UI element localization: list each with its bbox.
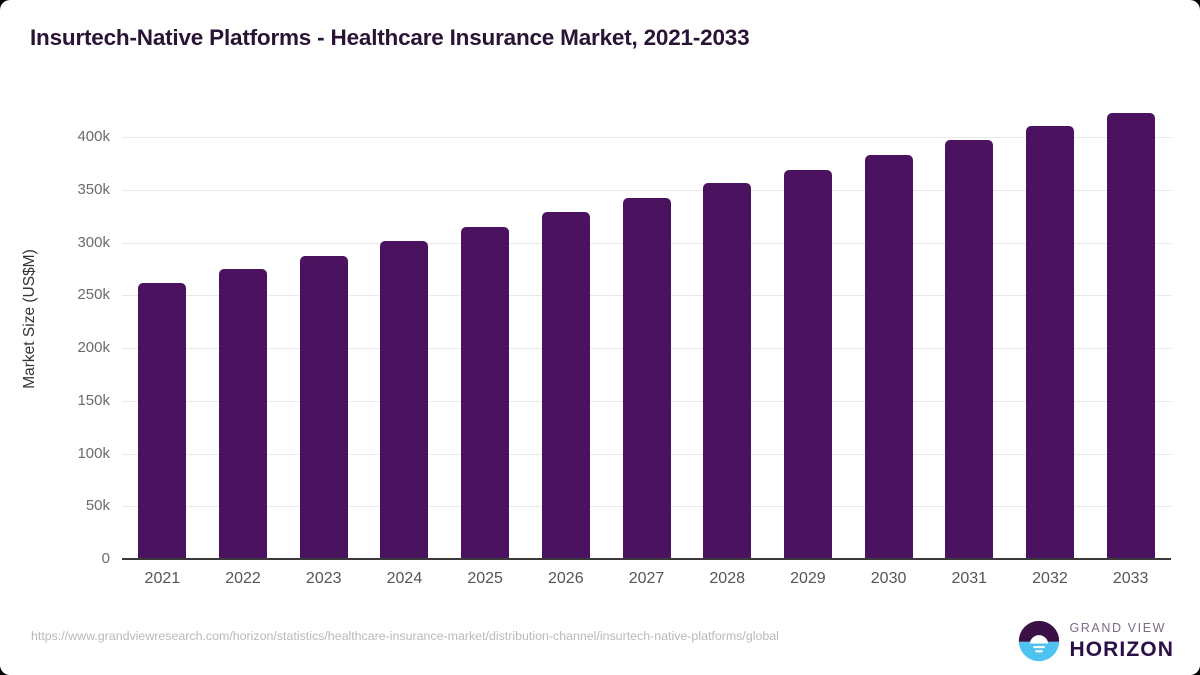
y-tick-label: 50k <box>0 497 110 514</box>
x-tick-label: 2026 <box>526 570 606 588</box>
x-tick-label: 2024 <box>364 570 444 588</box>
y-tick-label: 350k <box>0 181 110 198</box>
source-url[interactable]: https://www.grandviewresearch.com/horizo… <box>31 628 921 645</box>
gridline <box>122 137 1171 138</box>
y-axis-title-wrapper: Market Size (US$M) <box>0 0 60 675</box>
bar[interactable] <box>542 212 590 559</box>
y-tick-label: 200k <box>0 339 110 356</box>
bar[interactable] <box>703 183 751 559</box>
bar[interactable] <box>1107 113 1155 559</box>
y-tick-label: 150k <box>0 392 110 409</box>
x-tick-label: 2030 <box>849 570 929 588</box>
logo-bottom-text: HORIZON <box>1069 639 1174 660</box>
logo-wordmark: GRAND VIEW HORIZON <box>1069 622 1174 660</box>
bar[interactable] <box>623 198 671 559</box>
bar[interactable] <box>380 241 428 559</box>
x-tick-label: 2028 <box>687 570 767 588</box>
logo-top-text: GRAND VIEW <box>1069 622 1174 635</box>
x-axis-line <box>122 558 1171 560</box>
x-tick-label: 2025 <box>445 570 525 588</box>
grand-view-horizon-logo-icon <box>1018 620 1060 662</box>
x-tick-label: 2031 <box>929 570 1009 588</box>
x-tick-label: 2032 <box>1010 570 1090 588</box>
y-tick-label: 100k <box>0 445 110 462</box>
chart-card: Insurtech-Native Platforms - Healthcare … <box>0 0 1200 675</box>
x-tick-label: 2021 <box>122 570 202 588</box>
bar[interactable] <box>784 170 832 559</box>
y-tick-label: 300k <box>0 234 110 251</box>
gridline <box>122 190 1171 191</box>
x-tick-label: 2029 <box>768 570 848 588</box>
bar[interactable] <box>945 140 993 559</box>
y-tick-label: 250k <box>0 286 110 303</box>
y-tick-label: 0 <box>0 550 110 567</box>
x-tick-label: 2023 <box>284 570 364 588</box>
x-tick-label: 2033 <box>1091 570 1171 588</box>
bar[interactable] <box>461 227 509 559</box>
plot-area <box>122 100 1171 559</box>
bar[interactable] <box>300 256 348 559</box>
page-title: Insurtech-Native Platforms - Healthcare … <box>30 25 749 51</box>
bar[interactable] <box>138 283 186 559</box>
bar[interactable] <box>1026 126 1074 559</box>
brand-logo[interactable]: GRAND VIEW HORIZON <box>1018 620 1174 662</box>
y-axis-title: Market Size (US$M) <box>21 169 39 469</box>
bar[interactable] <box>865 155 913 559</box>
y-tick-label: 400k <box>0 128 110 145</box>
x-tick-label: 2022 <box>203 570 283 588</box>
bar[interactable] <box>219 269 267 559</box>
x-tick-label: 2027 <box>607 570 687 588</box>
